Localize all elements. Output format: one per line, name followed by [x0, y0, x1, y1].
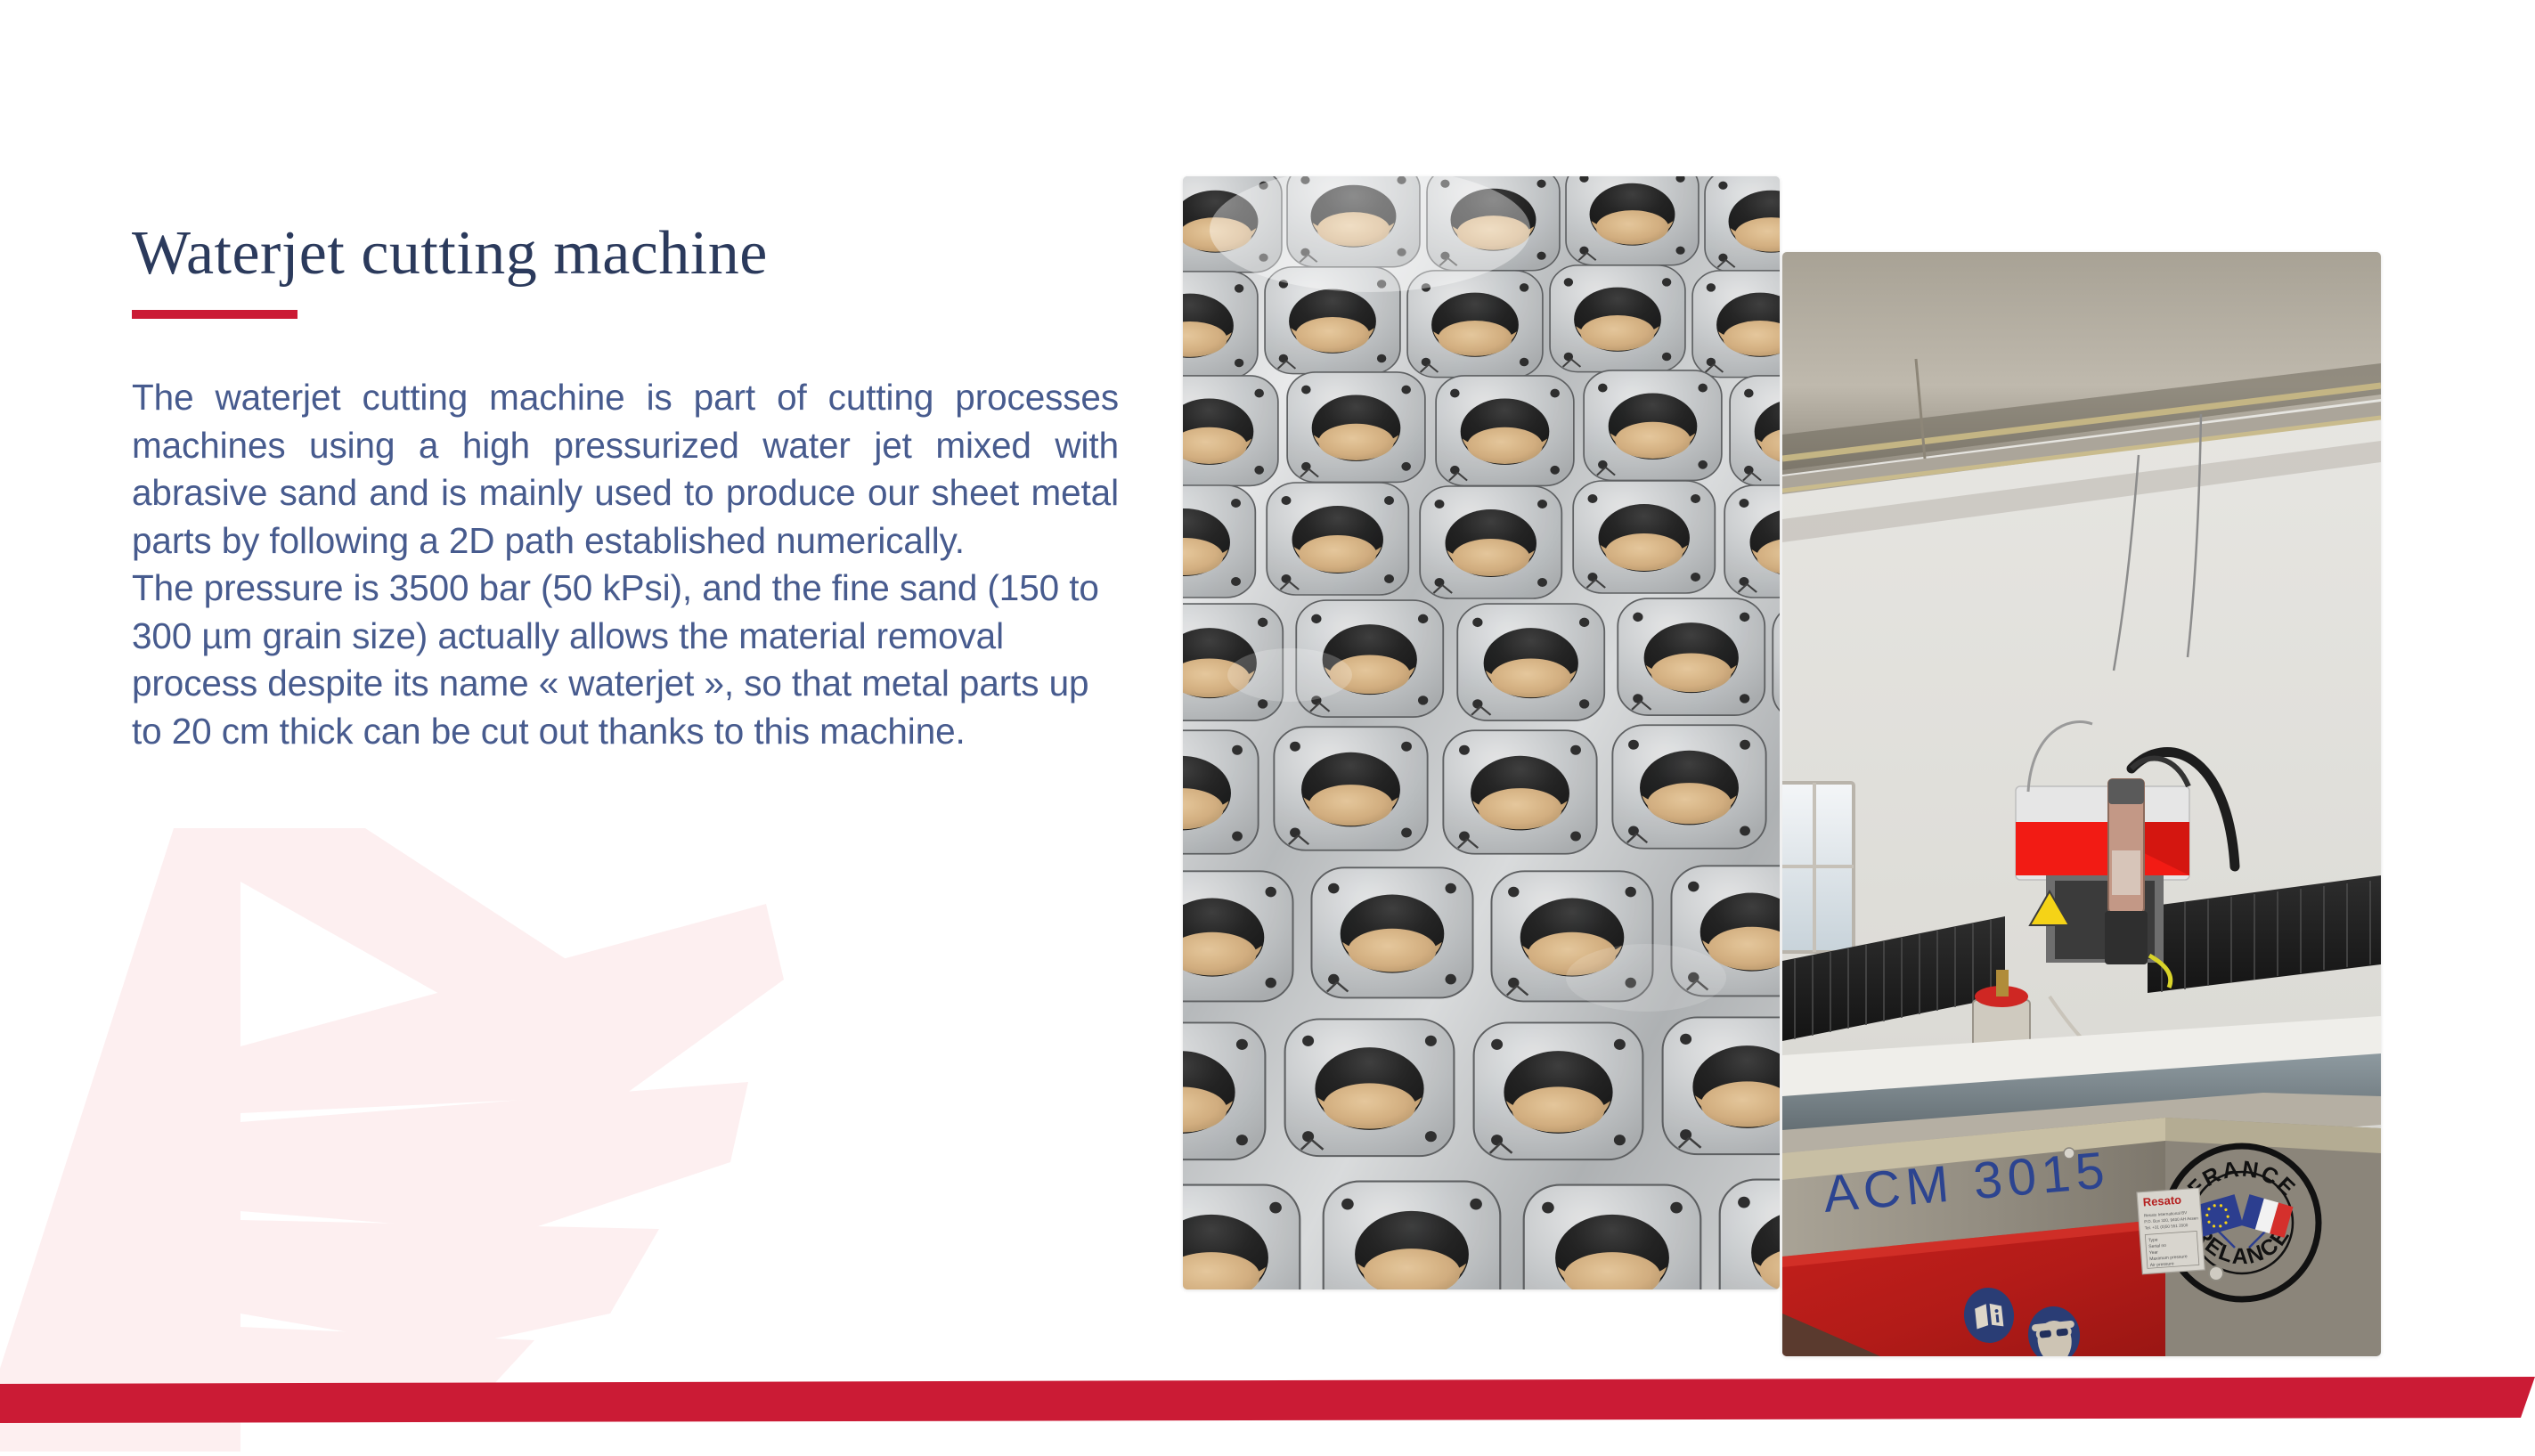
svg-text:Year: Year [2149, 1249, 2159, 1256]
body-paragraph-2: The pressure is 3500 bar (50 kPsi), and … [132, 565, 1119, 755]
waterjet-machine-photo: ACM 3015 FRANCE RELANCE [1782, 252, 2381, 1356]
footer-accent-bar [0, 1371, 2535, 1425]
title-accent-rule [132, 310, 298, 319]
resato-nameplate: Resato Resato International BV P.O. Box … [2137, 1188, 2205, 1274]
slide-text-column: Waterjet cutting machine The waterjet cu… [132, 223, 1138, 755]
page-title: Waterjet cutting machine [132, 223, 1138, 285]
svg-text:Resato: Resato [2142, 1193, 2181, 1209]
background-watermark-logo [0, 828, 819, 1452]
svg-text:Type: Type [2148, 1237, 2158, 1243]
body-text-block: The waterjet cutting machine is part of … [132, 374, 1138, 755]
body-paragraph-1: The waterjet cutting machine is part of … [132, 374, 1119, 565]
sheet-metal-photo [1183, 176, 1780, 1289]
